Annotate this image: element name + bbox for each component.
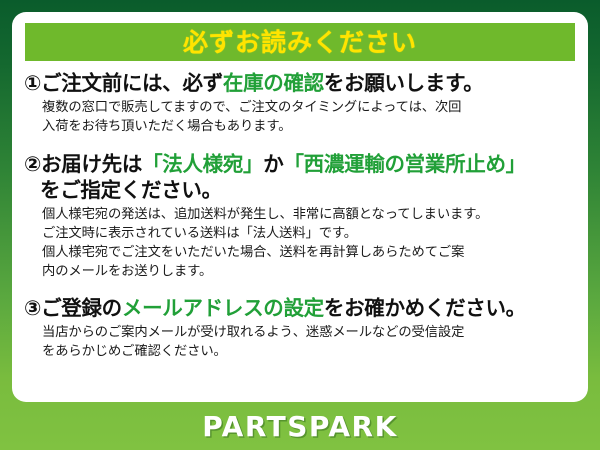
item-2-heading-line-2: をご指定ください。: [24, 177, 579, 203]
item-2-number: ②: [24, 152, 41, 176]
item-2-heading-part-0: お届け先は: [41, 152, 142, 176]
item-2-heading-highlight-1: 「法人様宛」: [142, 152, 263, 176]
item-2-body-line-3: 個人様宅宛でご注文をいただいた場合、送料を再計算しあらためてご案: [42, 243, 579, 262]
header-bar: 必ずお読みください: [25, 23, 575, 61]
item-1-heading-part-0: ご注文前には、必ず: [41, 71, 223, 95]
item-2-heading: ②お届け先は「法人様宛」か「西濃運輸の営業所止め」 をご指定ください。: [24, 151, 579, 203]
item-3-heading: ③ご登録のメールアドレスの設定をお確かめください。: [24, 295, 579, 321]
item-1-heading: ①ご注文前には、必ず在庫の確認をお願いします。: [24, 70, 579, 96]
item-2-body-line-1: 個人様宅宛の発送は、追加送料が発生し、非常に高額となってしまいます。: [42, 205, 579, 224]
notice-item-2: ②お届け先は「法人様宛」か「西濃運輸の営業所止め」 をご指定ください。 個人様宅…: [12, 151, 588, 282]
item-1-body-line-1: 複数の窓口で販売してますので、ご注文のタイミングによっては、次回: [42, 98, 579, 117]
item-3-heading-highlight: メールアドレスの設定: [122, 296, 324, 320]
item-2-body-line-2: ご注文時に表示されている送料は「法人送料」です。: [42, 224, 579, 243]
item-3-body-line-1: 当店からのご案内メールが受け取れるよう、迷惑メールなどの受信設定: [42, 323, 579, 342]
notice-banner: 必ずお読みください ①ご注文前には、必ず在庫の確認をお願いします。 複数の窓口で…: [0, 0, 600, 450]
footer-bar: PARTSPARK: [0, 402, 600, 450]
item-2-heading-highlight-2: 「西濃運輸の営業所止め」: [283, 152, 525, 176]
item-2-heading-part-2: か: [263, 152, 283, 176]
item-1-body: 複数の窓口で販売してますので、ご注文のタイミングによっては、次回 入荷をお待ち頂…: [24, 98, 579, 136]
item-2-body: 個人様宅宛の発送は、追加送料が発生し、非常に高額となってしまいます。 ご注文時に…: [24, 205, 579, 282]
notice-item-3: ③ご登録のメールアドレスの設定をお確かめください。 当店からのご案内メールが受け…: [12, 295, 588, 362]
item-1-heading-part-2: をお願いします。: [324, 71, 484, 95]
item-3-heading-part-0: ご登録の: [41, 296, 122, 320]
item-3-body: 当店からのご案内メールが受け取れるよう、迷惑メールなどの受信設定 をあらかじめご…: [24, 323, 579, 361]
item-1-heading-highlight: 在庫の確認: [223, 71, 324, 95]
item-1-body-line-2: 入荷をお待ち頂いただく場合もあります。: [42, 117, 579, 136]
white-panel: 必ずお読みください ①ご注文前には、必ず在庫の確認をお願いします。 複数の窓口で…: [12, 12, 588, 402]
item-1-number: ①: [24, 71, 41, 95]
item-3-body-line-2: をあらかじめご確認ください。: [42, 342, 579, 361]
brand-name: PARTSPARK: [202, 410, 398, 443]
item-3-heading-part-2: をお確かめください。: [324, 296, 526, 320]
header-title: 必ずお読みください: [183, 30, 417, 55]
item-2-body-line-4: 内のメールをお送りします。: [42, 262, 579, 281]
item-3-number: ③: [24, 296, 41, 320]
notice-item-1: ①ご注文前には、必ず在庫の確認をお願いします。 複数の窓口で販売してますので、ご…: [12, 70, 588, 137]
notice-item-list: ①ご注文前には、必ず在庫の確認をお願いします。 複数の窓口で販売してますので、ご…: [12, 70, 588, 361]
